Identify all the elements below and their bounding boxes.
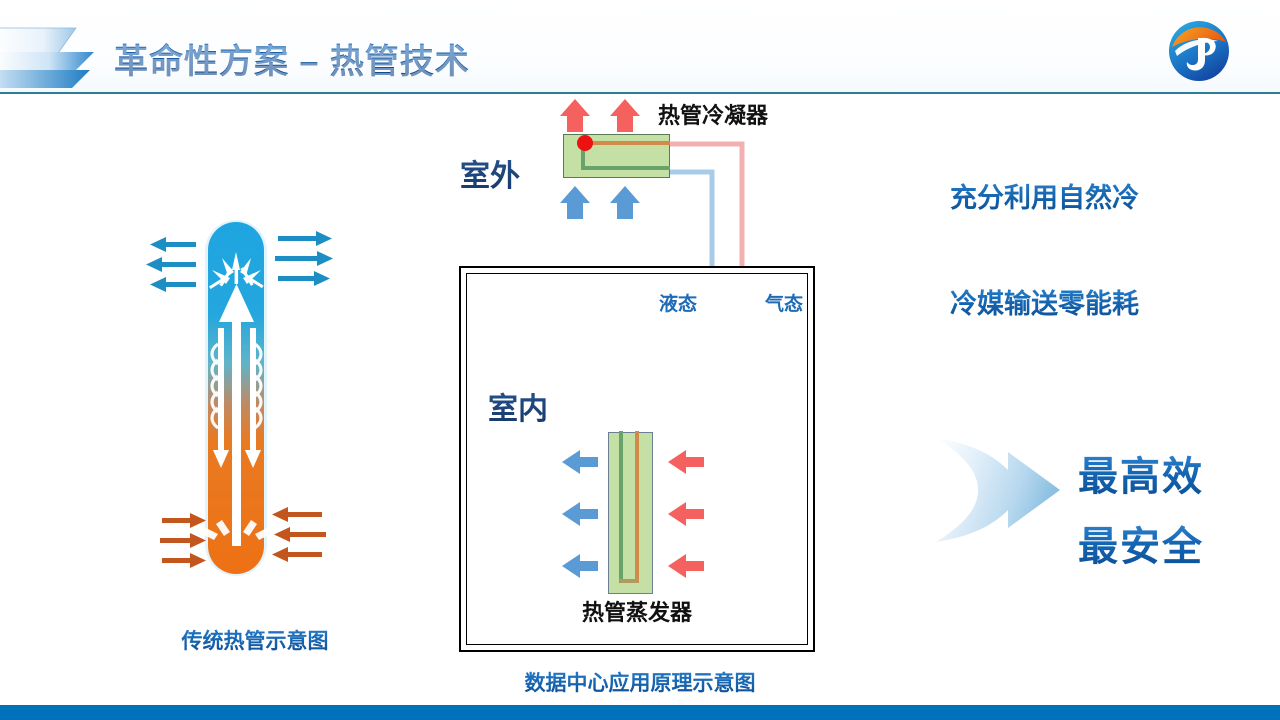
evaporator-label: 热管蒸发器: [582, 595, 692, 627]
classic-heat-pipe-illustration: [130, 218, 380, 618]
page-title: 革命性方案 – 热管技术: [114, 34, 470, 83]
liquid-phase-label: 液态: [659, 289, 697, 316]
conclusion-arrow-icon: [934, 430, 1064, 550]
slogan-text-2: 最安全: [1078, 514, 1204, 572]
data-center-principle-diagram: 热管冷凝器 热管蒸发器 室外 室内 液态 气态: [440, 94, 840, 674]
center-diagram-caption: 数据中心应用原理示意图: [440, 667, 840, 697]
intake-arrow-icon: [560, 186, 640, 219]
hot-return-arrow-icon: [668, 450, 704, 578]
benefit-text-1: 充分利用自然冷: [950, 176, 1139, 215]
evaporator-airflow-arrows: [550, 424, 730, 604]
exhaust-arrow-icon: [560, 99, 640, 132]
company-logo-icon: [1168, 20, 1230, 82]
slogan-text-1: 最高效: [1078, 444, 1204, 502]
benefit-text-2: 冷媒输送零能耗: [950, 282, 1139, 321]
slide-footer-bar: [0, 705, 1280, 720]
cold-supply-arrow-icon: [562, 450, 598, 578]
gas-phase-label: 气态: [765, 289, 803, 316]
slide-header: 革命性方案 – 热管技术: [0, 0, 1280, 94]
left-panel-caption: 传统热管示意图: [130, 625, 380, 655]
indoor-label: 室内: [488, 384, 548, 428]
condenser-label: 热管冷凝器: [658, 98, 768, 130]
outdoor-label: 室外: [460, 151, 520, 195]
header-decoration-shape: [0, 26, 124, 88]
